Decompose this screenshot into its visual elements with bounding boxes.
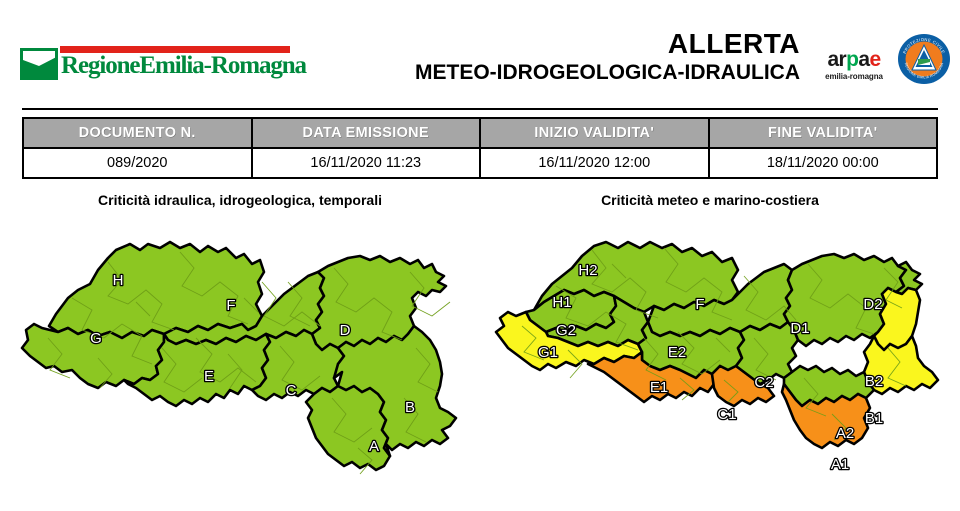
zone-label-H: H (113, 272, 124, 289)
zone-label-G1: G1 (538, 344, 558, 361)
title-allerta: ALLERTA (330, 28, 800, 60)
zone-label-D2: D2 (863, 296, 882, 313)
zone-label-B1: B1 (865, 410, 883, 427)
map-right-svg: H2 H1 G2 G1 F E2 E1 D1 D2 C2 C1 B2 B1 A2… (492, 238, 944, 506)
caption-criticita-meteo: Criticità meteo e marino-costiera (490, 192, 930, 208)
zone-label-A: A (369, 438, 379, 455)
map-left-svg: H G F E D C B A (12, 238, 464, 506)
column-header-documento: DOCUMENTO N. (23, 118, 252, 148)
arpae-subtitle: emilia-romagna (815, 71, 893, 82)
zone-label-D: D (340, 322, 351, 339)
zone-label-C: C (286, 382, 297, 399)
title-subtitle: METEO-IDROGEOLOGICA-IDRAULICA (330, 60, 800, 86)
cell-documento-numero: 089/2020 (23, 148, 252, 178)
map-criticita-meteo-marino-costiera: H2 H1 G2 G1 F E2 E1 D1 D2 C2 C1 B2 B1 A2… (492, 238, 944, 511)
arpae-ar: ar (827, 48, 846, 71)
arpae-p: p (846, 48, 858, 71)
column-header-inizio-validita: INIZIO VALIDITA' (480, 118, 709, 148)
logo-regione-emilia-romagna: RegioneEmilia-Romagna (20, 46, 290, 82)
zone-label-F: F (695, 296, 704, 313)
zone-label-E: E (204, 368, 214, 385)
arpae-a: a (858, 48, 869, 71)
cell-fine-validita: 18/11/2020 00:00 (709, 148, 938, 178)
zone-label-G: G (90, 330, 102, 347)
zone-label-H2: H2 (578, 262, 597, 279)
zone-label-E1: E1 (650, 379, 668, 396)
zone-label-G2: G2 (556, 322, 576, 339)
table-row: 089/2020 16/11/2020 11:23 16/11/2020 12:… (23, 148, 937, 178)
map-left-zones (22, 242, 456, 470)
page-header: RegioneEmilia-Romagna ALLERTA METEO-IDRO… (0, 0, 960, 106)
zone-label-D1: D1 (790, 320, 809, 337)
regione-flag-wave (23, 51, 55, 66)
arpae-e: e (869, 48, 880, 71)
zone-label-A1: A1 (831, 456, 849, 473)
cell-data-emissione: 16/11/2020 11:23 (252, 148, 481, 178)
zone-label-C1: C1 (717, 406, 736, 423)
column-header-fine-validita: FINE VALIDITA' (709, 118, 938, 148)
caption-criticita-idraulica: Criticità idraulica, idrogeologica, temp… (20, 192, 460, 208)
zone-label-A2: A2 (836, 425, 854, 442)
zone-label-B2: B2 (865, 373, 883, 390)
zone-A-shape[interactable] (306, 386, 390, 470)
regione-flag-icon (20, 48, 58, 80)
zone-label-C2: C2 (754, 374, 773, 391)
zone-label-F: F (226, 297, 235, 314)
regione-wordmark: RegioneEmilia-Romagna (61, 51, 306, 81)
document-info-table: DOCUMENTO N. DATA EMISSIONE INIZIO VALID… (22, 117, 938, 179)
logo-arpae: arpae emilia-romagna (815, 49, 893, 82)
map-criticita-idraulica-idrogeologica-temporali: H G F E D C B A (12, 238, 464, 511)
protezione-civile-icon: PROTEZIONE CIVILE REGIONE EMILIA ROMAGNA (897, 32, 951, 86)
logo-protezione-civile: PROTEZIONE CIVILE REGIONE EMILIA ROMAGNA (897, 32, 951, 86)
page-title: ALLERTA METEO-IDROGEOLOGICA-IDRAULICA (330, 28, 800, 86)
column-header-data-emissione: DATA EMISSIONE (252, 118, 481, 148)
zone-label-E2: E2 (668, 344, 686, 361)
cell-inizio-validita: 16/11/2020 12:00 (480, 148, 709, 178)
zone-label-B: B (405, 399, 415, 416)
table-header-row: DOCUMENTO N. DATA EMISSIONE INIZIO VALID… (23, 118, 937, 148)
zone-label-H1: H1 (552, 294, 571, 311)
header-divider (22, 108, 938, 110)
arpae-wordmark: arpae (815, 49, 893, 71)
